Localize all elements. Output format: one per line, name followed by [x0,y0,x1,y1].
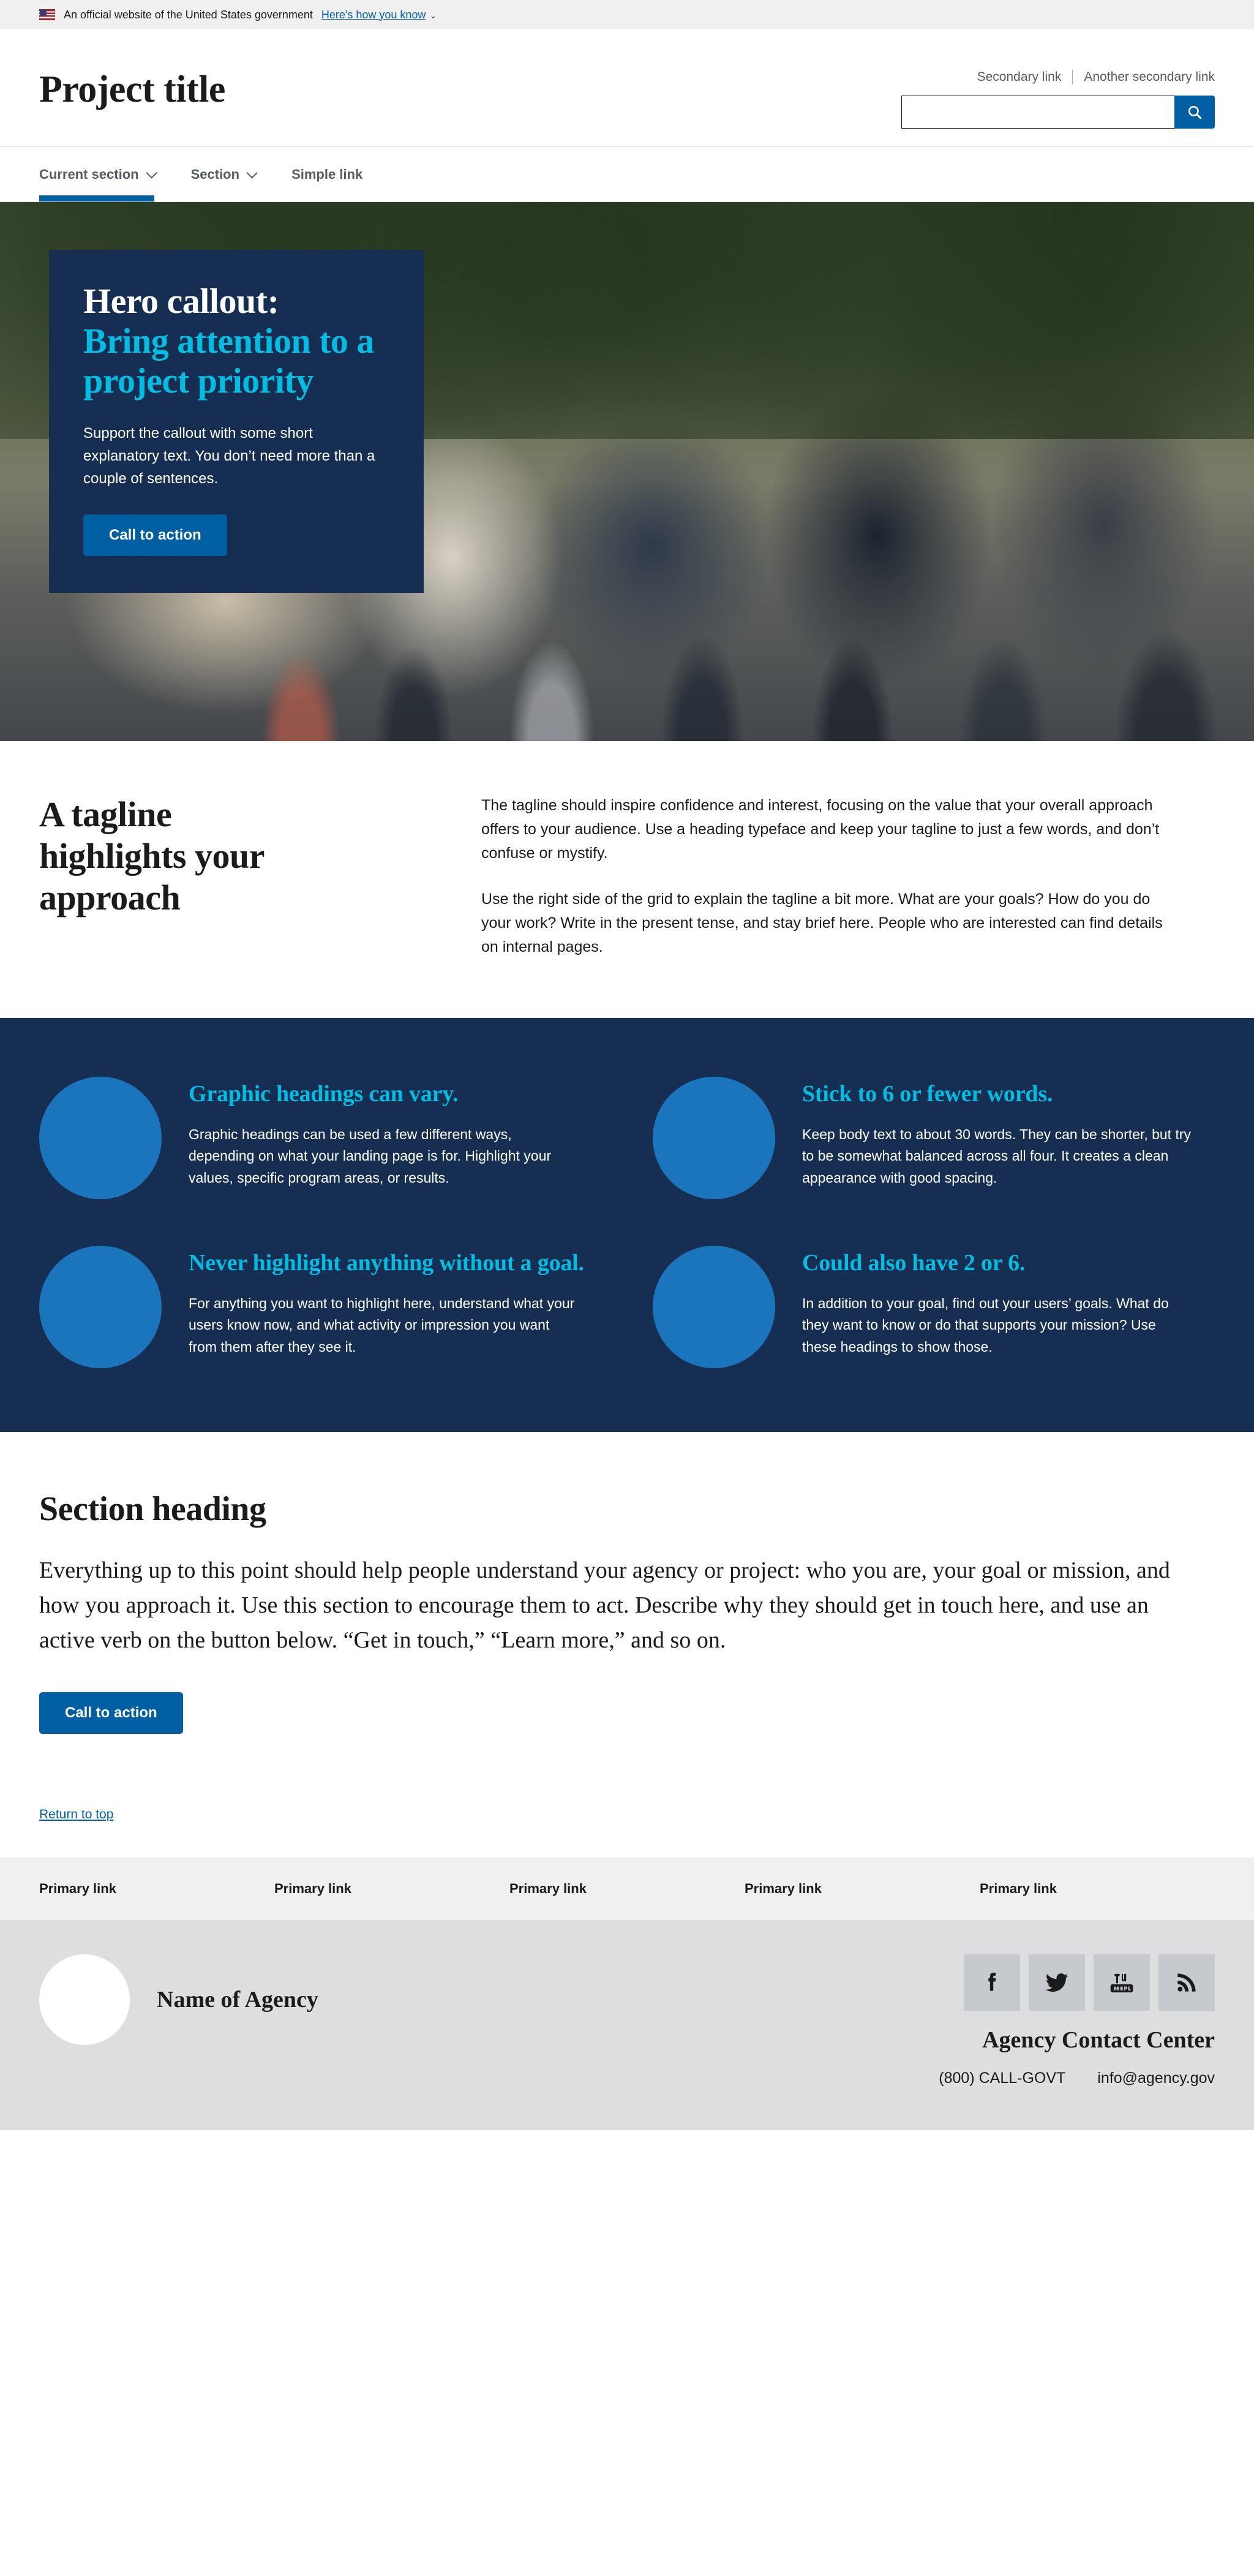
tile-heading: Graphic headings can vary. [189,1080,580,1108]
return-to-top-wrapper: Return to top [0,1758,1254,1858]
tile-heading: Could also have 2 or 6. [802,1249,1194,1277]
rss-link[interactable] [1158,1954,1215,2011]
secondary-link-2[interactable]: Another secondary link [1084,70,1215,85]
hero-heading: Hero callout: Bring attention to a proje… [83,282,389,401]
footer-primary-link-3[interactable]: Primary link [509,1881,587,1896]
nav-item-simple-link[interactable]: Simple link [273,147,381,201]
twitter-link[interactable] [1029,1954,1085,2011]
return-to-top-link[interactable]: Return to top [39,1807,113,1821]
hero-section: Hero callout: Bring attention to a proje… [0,202,1254,741]
tile-circle-graphic [39,1246,162,1368]
contact-details: (800) CALL-GOVT info@agency.gov [939,2069,1215,2087]
agency-logo-placeholder-icon [39,1954,130,2045]
graphic-tile: Graphic headings can vary. Graphic headi… [39,1077,601,1199]
youtube-link[interactable] [1094,1954,1150,2011]
footer-primary-link-4[interactable]: Primary link [745,1881,822,1896]
contact-email[interactable]: info@agency.gov [1097,2069,1215,2087]
tagline-section: A tagline highlights your approach The t… [0,741,1254,1018]
search-icon [1187,104,1203,120]
footer-nav-item: Primary link [39,1881,274,1897]
facebook-icon [978,1969,1005,1996]
hero-heading-accent: Bring attention to a project priority [83,322,389,401]
footer-primary-nav: Primary link Primary link Primary link P… [0,1858,1254,1920]
footer-nav-item: Primary link [274,1881,509,1897]
primary-navigation: Current section Section Simple link [0,147,1254,202]
tile-heading: Never highlight anything without a goal. [189,1249,584,1277]
footer-nav-item: Primary link [745,1881,980,1897]
graphic-list-section: Graphic headings can vary. Graphic headi… [0,1018,1254,1432]
contact-phone[interactable]: (800) CALL-GOVT [939,2069,1065,2087]
tagline-paragraph-2: Use the right side of the grid to explai… [481,887,1167,959]
nav-item-label: Current section [39,167,139,183]
tile-body: In addition to your goal, find out your … [802,1293,1194,1358]
how-you-know-link[interactable]: Here's how you know⌄ [321,9,437,21]
graphic-tile: Could also have 2 or 6. In addition to y… [653,1246,1215,1368]
footer-bottom: Name of Agency [0,1920,1254,2130]
hero-body-text: Support the callout with some short expl… [83,422,389,491]
tile-circle-graphic [39,1077,162,1199]
tile-body: For anything you want to highlight here,… [189,1293,580,1358]
hero-callout-panel: Hero callout: Bring attention to a proje… [49,250,424,593]
graphic-tile: Never highlight anything without a goal.… [39,1246,601,1368]
tagline-heading: A tagline highlights your approach [39,794,302,959]
tile-circle-graphic [653,1246,775,1368]
twitter-icon [1043,1969,1070,1996]
footer-nav-item: Primary link [509,1881,745,1897]
hero-call-to-action-button[interactable]: Call to action [83,514,227,556]
facebook-link[interactable] [964,1954,1020,2011]
social-links [964,1954,1215,2011]
footer-contact-block: Agency Contact Center (800) CALL-GOVT in… [939,1954,1215,2087]
content-section: Section heading Everything up to this po… [0,1432,1254,1758]
youtube-icon [1108,1969,1135,1996]
graphic-tile: Stick to 6 or fewer words. Keep body tex… [653,1077,1215,1199]
footer-primary-link-5[interactable]: Primary link [980,1881,1057,1896]
us-flag-icon [39,9,55,20]
tile-body: Graphic headings can be used a few diffe… [189,1124,580,1189]
chevron-down-icon [246,167,257,178]
nav-item-label: Section [191,167,239,183]
nav-item-label: Simple link [291,167,362,183]
how-you-know-label: Here's how you know [321,9,426,21]
tile-heading: Stick to 6 or fewer words. [802,1080,1194,1108]
agency-name: Name of Agency [157,1986,318,2013]
tagline-body: The tagline should inspire confidence an… [481,794,1215,959]
divider [1072,70,1073,85]
search-input[interactable] [901,96,1174,129]
section-call-to-action-button[interactable]: Call to action [39,1692,183,1734]
contact-center-title: Agency Contact Center [982,2027,1215,2054]
tile-body: Keep body text to about 30 words. They c… [802,1124,1194,1189]
footer-nav-item: Primary link [980,1881,1215,1897]
search-button[interactable] [1174,96,1215,129]
section-body-text: Everything up to this point should help … [39,1553,1203,1658]
search-form [901,96,1215,129]
footer-primary-link-1[interactable]: Primary link [39,1881,116,1896]
chevron-down-icon [146,167,157,178]
section-heading: Section heading [39,1489,1215,1529]
nav-item-section[interactable]: Section [173,147,273,201]
secondary-links: Secondary link Another secondary link [977,70,1215,85]
hero-heading-lead: Hero callout: [83,282,389,322]
tile-circle-graphic [653,1077,775,1199]
government-banner-text: An official website of the United States… [64,9,313,21]
tagline-paragraph-1: The tagline should inspire confidence an… [481,794,1167,865]
rss-icon [1173,1969,1200,1996]
secondary-link-1[interactable]: Secondary link [977,70,1062,85]
chevron-down-icon: ⌄ [429,10,437,21]
site-footer: Primary link Primary link Primary link P… [0,1858,1254,2130]
site-title[interactable]: Project title [39,68,225,111]
government-banner: An official website of the United States… [0,0,1254,29]
agency-identifier: Name of Agency [39,1954,318,2045]
site-header: Project title Secondary link Another sec… [0,29,1254,147]
nav-item-current-section[interactable]: Current section [39,147,173,201]
footer-primary-link-2[interactable]: Primary link [274,1881,351,1896]
